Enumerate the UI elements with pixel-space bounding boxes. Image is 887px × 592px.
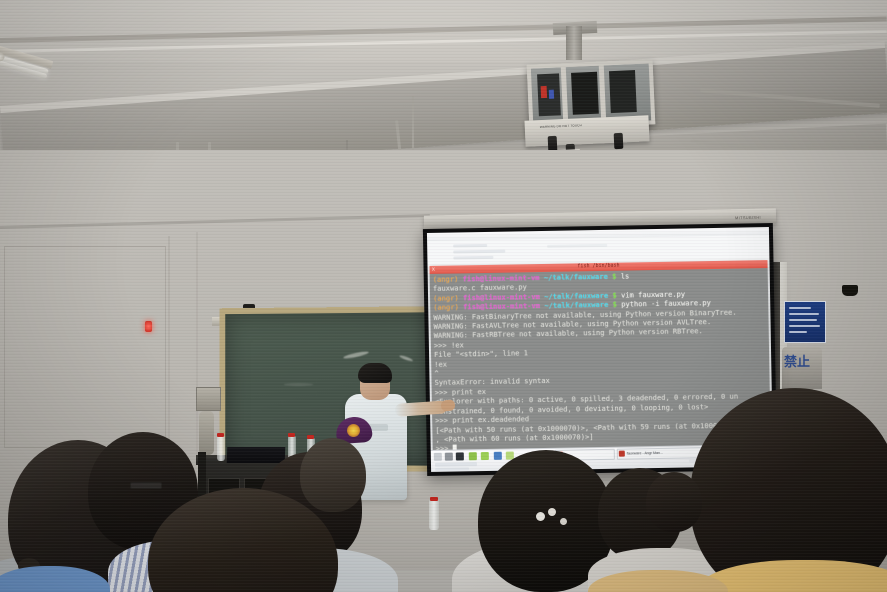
bottle-cap-1 — [217, 433, 224, 437]
laptop-on-podium — [227, 447, 286, 463]
security-camera — [842, 285, 858, 296]
wall-phone-handset — [199, 411, 214, 455]
wall-round-sign-text: 禁止 — [784, 355, 820, 381]
browser-icon[interactable] — [469, 452, 477, 460]
audience-glasses — [130, 482, 162, 489]
audience-hair-clip-2 — [548, 508, 556, 516]
terminal-icon[interactable] — [456, 452, 464, 460]
wall-panel-left — [4, 246, 166, 448]
menu-icon[interactable] — [434, 453, 442, 461]
taskbar-window-label: fauxware - Angr Man... — [627, 448, 701, 458]
bottle-cap-2 — [288, 433, 295, 437]
audience-head-hat-wearer — [300, 438, 366, 512]
app-window-icon — [619, 451, 625, 457]
wall-phone-box — [196, 387, 221, 411]
wall-seam-vertical-left — [168, 236, 170, 446]
wall-seam-vertical-mid — [196, 232, 198, 462]
screen-brand-logo: MITSUBISHI — [735, 215, 761, 221]
desktop-menubar — [427, 227, 769, 241]
taskbar-lower-strip-2 — [435, 467, 469, 471]
close-icon[interactable]: x — [432, 267, 436, 273]
hat-flower-decoration — [347, 424, 360, 437]
taskbar-lower-strip-1 — [435, 462, 477, 467]
audience-head-mid-right — [646, 472, 702, 532]
lecture-hall-photo: WARNING DO NOT TOUCH 禁止 MITSUBISHI — [0, 0, 887, 592]
water-bottle-4 — [429, 500, 439, 530]
editor-icon[interactable] — [481, 452, 489, 460]
terminal-title-text: fish /bin/bash — [577, 263, 619, 270]
presenter-hair — [358, 363, 392, 383]
wall-notice-sign — [784, 301, 826, 343]
water-bottle-1 — [217, 436, 225, 461]
bottle-cap-3 — [307, 435, 314, 439]
taskbar-window-button-2[interactable]: fauxware - Angr Man... — [617, 447, 705, 460]
audience-hair-clip-3 — [560, 518, 567, 525]
files-icon[interactable] — [445, 453, 453, 461]
settings-icon[interactable] — [494, 452, 502, 460]
projector-bolt-2 — [614, 133, 624, 149]
bottle-cap-4 — [430, 497, 438, 501]
projector-mount-arm — [566, 26, 582, 60]
indicator-light-red — [145, 321, 152, 332]
audience-hair-clip — [536, 512, 545, 521]
